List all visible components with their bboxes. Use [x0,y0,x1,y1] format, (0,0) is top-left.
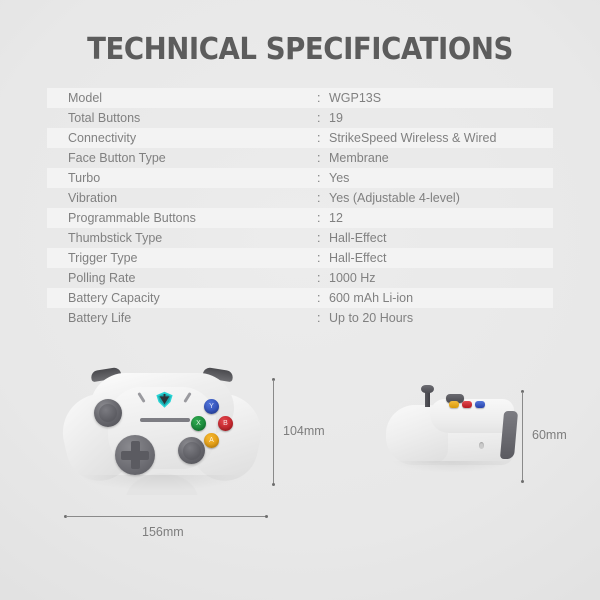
page-title: TECHNICAL SPECIFICATIONS [24,32,576,67]
spec-value: 1000 Hz [325,268,553,288]
spec-colon: : [317,268,325,288]
side-top-deck [430,399,514,433]
spec-label: Model [47,88,317,108]
specifications-table: Model:WGP13STotal Buttons:19Connectivity… [47,88,553,328]
controller-front-view: Y X B A [62,368,262,496]
spec-label: Total Buttons [47,108,317,128]
side-trigger [500,411,518,459]
spec-value: Membrane [325,148,553,168]
spec-row: Face Button Type:Membrane [47,148,553,168]
spec-colon: : [317,148,325,168]
side-thumbstick-cap [421,385,434,393]
spec-colon: : [317,248,325,268]
spec-row: Turbo:Yes [47,168,553,188]
side-thumbstick-shaft [425,391,430,407]
spec-value: StrikeSpeed Wireless & Wired [325,128,553,148]
spec-value: 19 [325,108,553,128]
face-button-y: Y [204,399,219,414]
spec-label: Vibration [47,188,317,208]
spec-row: Thumbstick Type:Hall-Effect [47,228,553,248]
side-shadow [392,461,510,473]
spec-row: Programmable Buttons:12 [47,208,553,228]
face-button-x: X [191,416,206,431]
dpad-vertical [131,441,140,469]
spec-colon: : [317,188,325,208]
controller-shell: Y X B A [64,373,260,493]
brand-logo-icon [155,391,174,409]
spec-label: Turbo [47,168,317,188]
dim-height-dot-bottom [272,483,275,486]
spec-colon: : [317,88,325,108]
spec-label: Battery Life [47,308,317,328]
right-thumbstick [178,437,205,464]
spec-label: Face Button Type [47,148,317,168]
spec-label: Polling Rate [47,268,317,288]
dim-depth-line [522,392,523,481]
spec-value: WGP13S [325,88,553,108]
spec-row: Vibration:Yes (Adjustable 4-level) [47,188,553,208]
spec-colon: : [317,208,325,228]
spec-label: Trigger Type [47,248,317,268]
spec-colon: : [317,308,325,328]
left-thumbstick [94,399,122,427]
spec-colon: : [317,288,325,308]
spec-value: 600 mAh Li-ion [325,288,553,308]
spec-label: Battery Capacity [47,288,317,308]
spec-row: Model:WGP13S [47,88,553,108]
spec-row: Connectivity:StrikeSpeed Wireless & Wire… [47,128,553,148]
side-thumbstick [421,385,434,407]
dim-depth-label: 60mm [532,428,567,442]
side-button-y [475,401,485,408]
spec-label: Connectivity [47,128,317,148]
spec-value: Hall-Effect [325,228,553,248]
spec-value: Hall-Effect [325,248,553,268]
spec-row: Battery Capacity:600 mAh Li-ion [47,288,553,308]
side-button-b [462,401,472,408]
face-button-a: A [204,433,219,448]
side-button-a [449,401,459,408]
controller-side-view [386,385,538,485]
spec-value: Yes (Adjustable 4-level) [325,188,553,208]
spec-value: 12 [325,208,553,228]
dim-width-dot-right [265,515,268,518]
spec-colon: : [317,128,325,148]
spec-label: Programmable Buttons [47,208,317,228]
dpad [115,435,155,475]
spec-row: Battery Life:Up to 20 Hours [47,308,553,328]
side-port [479,442,484,449]
dim-width-line [66,516,266,517]
spec-label: Thumbstick Type [47,228,317,248]
spec-colon: : [317,228,325,248]
spec-colon: : [317,168,325,188]
dim-width-label: 156mm [142,525,184,539]
dim-depth-dot-bottom [521,480,524,483]
center-bar [140,418,190,422]
product-figure-area: Y X B A 104mm 156mm [0,330,600,600]
face-button-b: B [218,416,233,431]
spec-row: Trigger Type:Hall-Effect [47,248,553,268]
spec-row: Total Buttons:19 [47,108,553,128]
shell-shadow [80,475,244,491]
spec-value: Up to 20 Hours [325,308,553,328]
spec-value: Yes [325,168,553,188]
spec-row: Polling Rate:1000 Hz [47,268,553,288]
spec-colon: : [317,108,325,128]
dim-height-line [273,380,274,484]
dim-height-label: 104mm [283,424,325,438]
